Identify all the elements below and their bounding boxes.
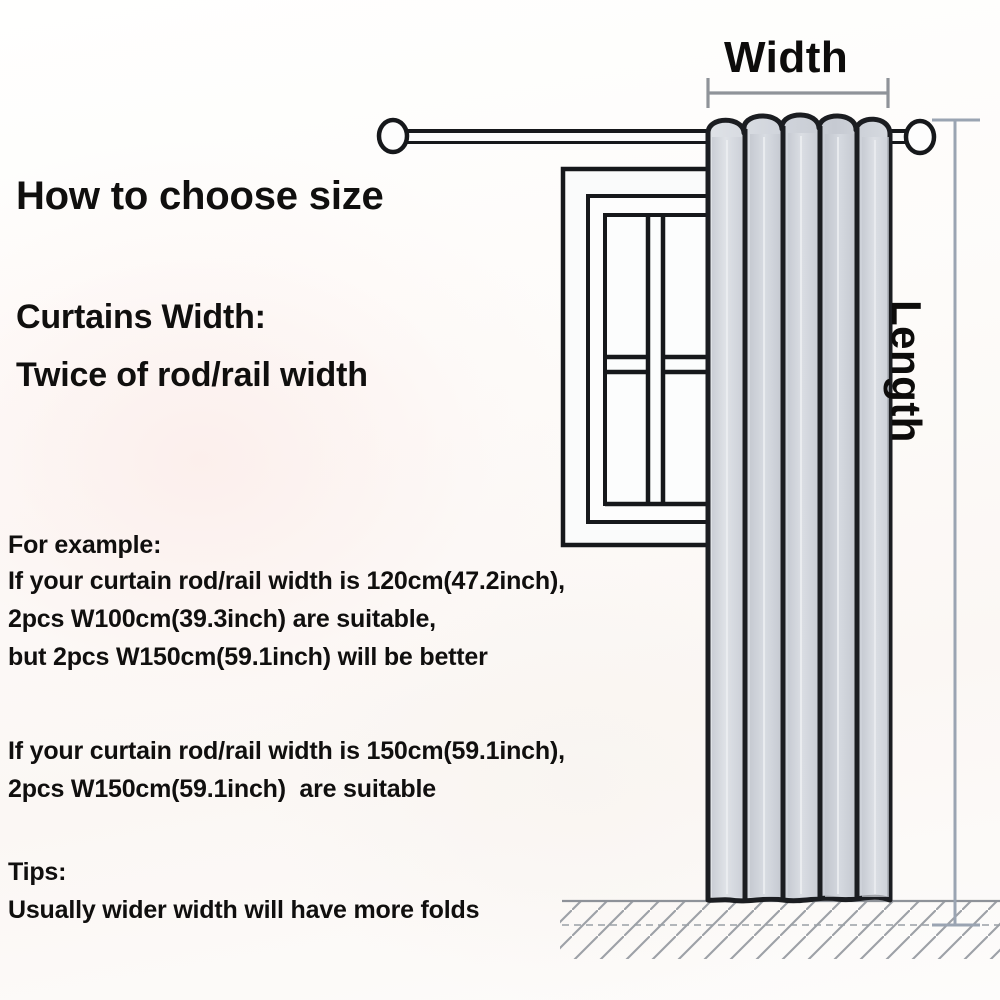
width-dimension-label: Width [724,33,848,83]
page-title: How to choose size [16,172,384,220]
window-glazing-frame [605,215,710,504]
example-line-1: If your curtain rod/rail width is 120cm(… [8,566,565,597]
curtain-fold-band-3 [788,133,818,897]
infographic-canvas: How to choose size Curtains Width: Twice… [0,0,1000,1000]
floor-group [560,901,1000,959]
floor-hatching [560,901,1000,959]
tips-heading: Tips: [8,857,66,888]
example-line-2: 2pcs W100cm(39.3inch) are suitable, [8,604,436,635]
example-heading: For example: [8,530,161,561]
curtain-panel-group [708,115,890,901]
window-group [563,169,712,545]
length-dimension-group [932,120,980,925]
example-line-3: but 2pcs W150cm(59.1inch) will be better [8,642,488,673]
length-dimension-label: Length [882,300,930,443]
rod-finial-left [379,120,407,152]
second-case-line-1: If your curtain rod/rail width is 150cm(… [8,736,565,767]
curtain-fold-band-4 [825,134,855,897]
rod-finial-right [906,121,934,153]
tips-line-1: Usually wider width will have more folds [8,895,479,926]
curtains-width-rule: Twice of rod/rail width [16,354,368,396]
curtain-illustration [0,0,1000,1000]
curtains-width-label: Curtains Width: [16,296,266,338]
second-case-line-2: 2pcs W150cm(59.1inch) are suitable [8,774,436,805]
